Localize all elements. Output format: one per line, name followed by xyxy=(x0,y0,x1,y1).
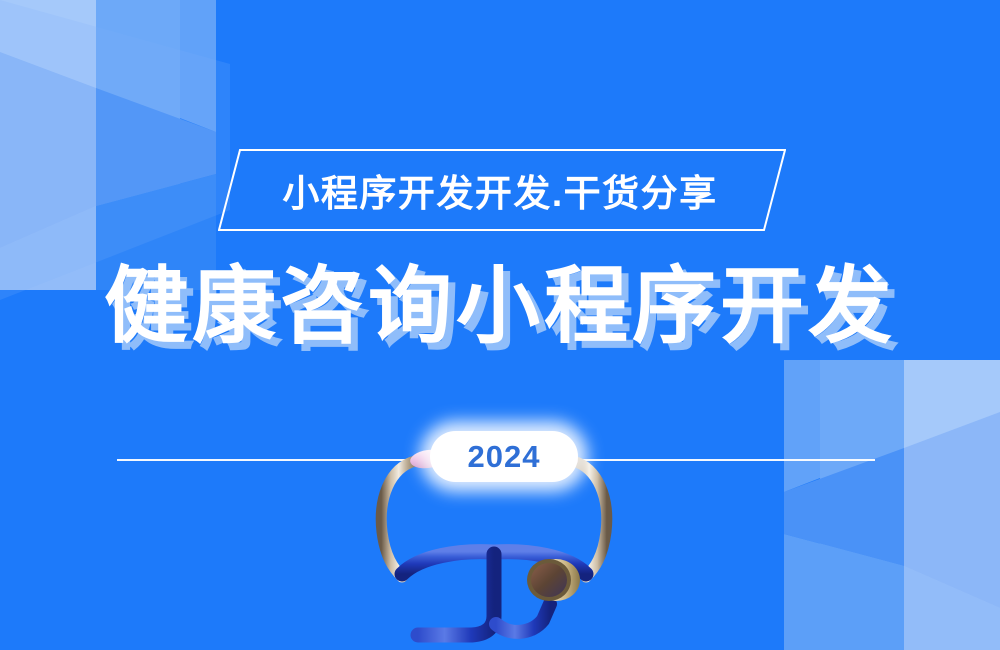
year-badge: 2024 xyxy=(430,431,578,482)
bottom-right-polygon-cluster xyxy=(784,360,1000,650)
polygon-br-facet-e xyxy=(784,360,820,492)
year-badge-text: 2024 xyxy=(468,441,541,472)
stethoscope-chestpiece xyxy=(527,559,580,601)
poster-canvas: 小程序开发开发.干货分享 健康咨询小程序开发 xyxy=(0,0,1000,650)
stethoscope-left-tube xyxy=(402,552,493,574)
page-title: 健康咨询小程序开发 xyxy=(0,262,1000,350)
subtitle-text: 小程序开发开发.干货分享 xyxy=(0,149,1000,231)
chestpiece-diaphragm xyxy=(531,563,567,597)
stethoscope-chestpiece-branch xyxy=(496,604,550,632)
